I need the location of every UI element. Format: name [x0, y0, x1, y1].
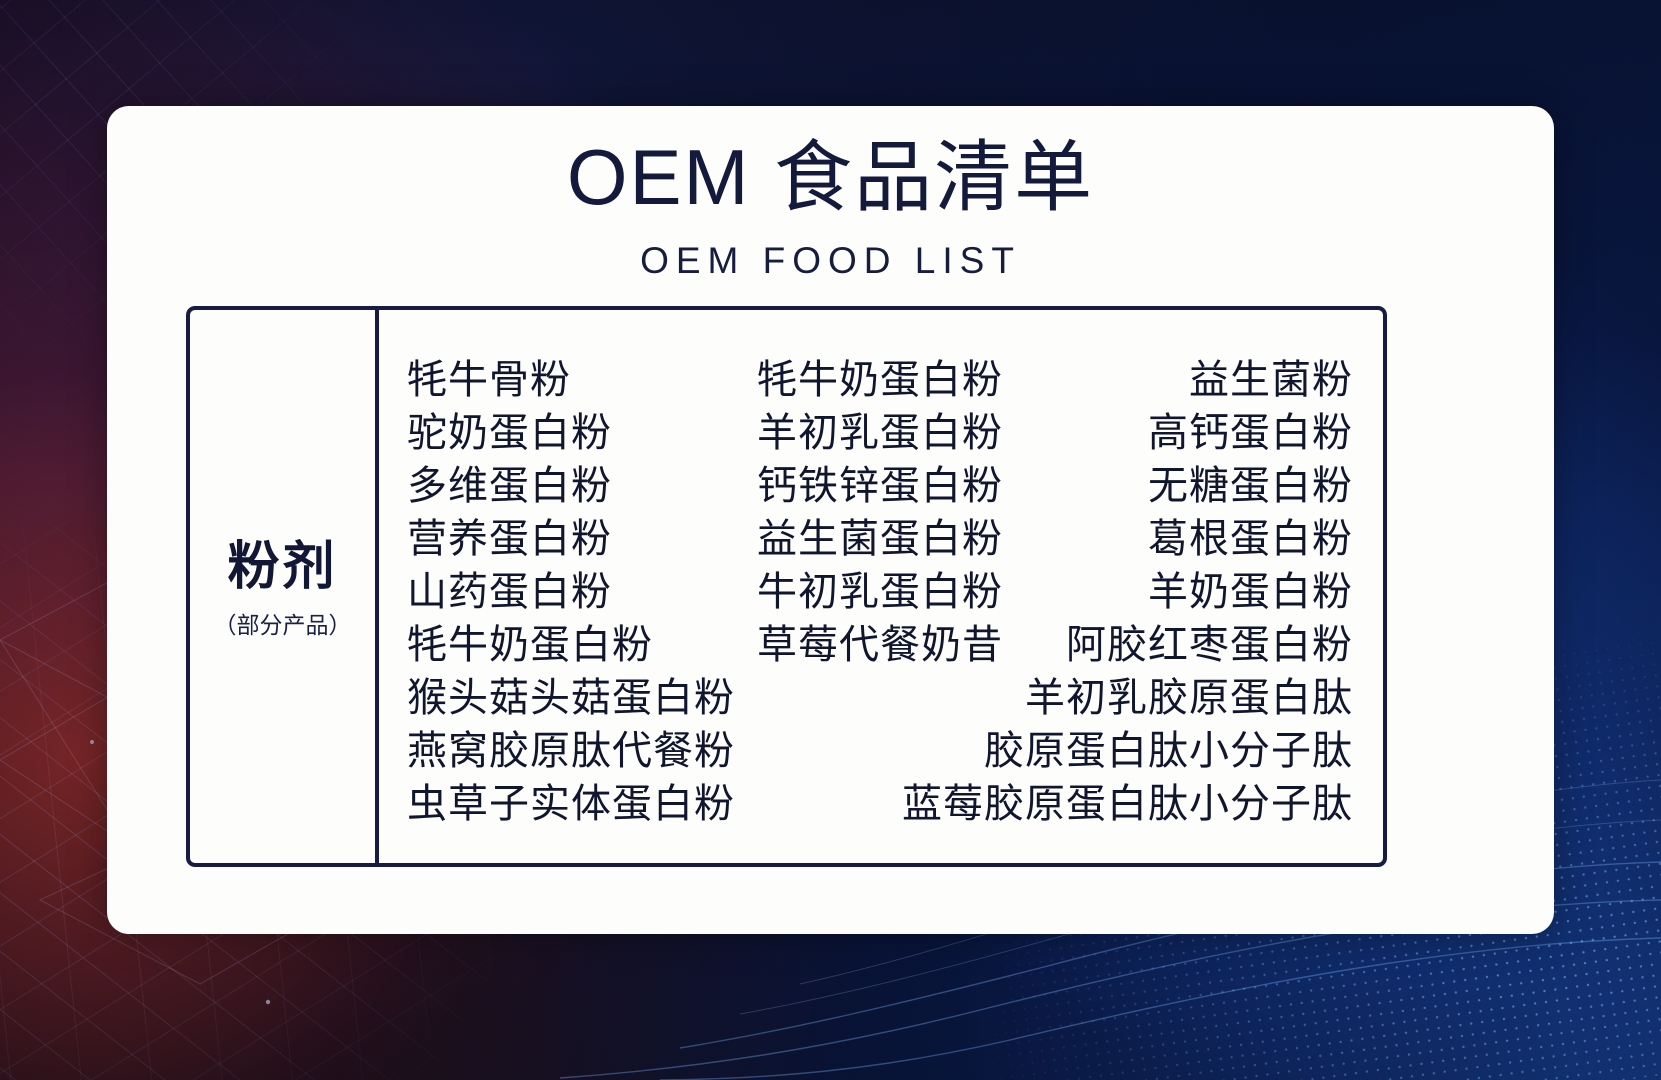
table-row: 山药蛋白粉 牛初乳蛋白粉 羊奶蛋白粉 [393, 561, 1361, 614]
slide-stage: OEM 食品清单 OEM FOOD LIST 粉剂 （部分产品） 牦牛骨粉 牦牛… [0, 0, 1661, 1080]
product-name: 蓝莓胶原蛋白肽小分子肽 [902, 771, 1353, 829]
table-cell: 牦牛奶蛋白粉 [722, 347, 1037, 405]
table-cell: 草莓代餐奶昔 [722, 612, 1037, 670]
table-cell: 多维蛋白粉 [393, 453, 722, 511]
table-row: 牦牛骨粉 牦牛奶蛋白粉 益生菌粉 [393, 349, 1361, 402]
product-name: 益生菌蛋白粉 [757, 506, 1003, 564]
category-name: 粉剂 [227, 539, 337, 596]
table-row: 多维蛋白粉 钙铁锌蛋白粉 无糖蛋白粉 [393, 455, 1361, 508]
table-cell: 牛初乳蛋白粉 [722, 559, 1037, 617]
table-row: 营养蛋白粉 益生菌蛋白粉 葛根蛋白粉 [393, 508, 1361, 561]
table-cell: 益生菌蛋白粉 [722, 506, 1037, 564]
product-name: 牦牛奶蛋白粉 [407, 612, 653, 670]
product-name: 高钙蛋白粉 [1148, 400, 1353, 458]
product-name: 胶原蛋白肽小分子肽 [984, 718, 1353, 776]
category-note: （部分产品） [214, 606, 352, 640]
product-name: 羊初乳胶原蛋白肽 [1025, 665, 1353, 723]
table-cell: 胶原蛋白肽小分子肽 [880, 718, 1361, 776]
table-cell: 益生菌粉 [1038, 347, 1361, 405]
table-cell: 牦牛骨粉 [393, 347, 722, 405]
table-row: 驼奶蛋白粉 羊初乳蛋白粉 高钙蛋白粉 [393, 402, 1361, 455]
product-name: 羊初乳蛋白粉 [757, 400, 1003, 458]
product-table: 粉剂 （部分产品） 牦牛骨粉 牦牛奶蛋白粉 益生菌粉 驼奶蛋白粉 羊初乳蛋白粉 … [186, 306, 1387, 867]
product-name: 阿胶红枣蛋白粉 [1066, 612, 1353, 670]
product-name: 无糖蛋白粉 [1148, 453, 1353, 511]
table-cell: 葛根蛋白粉 [1038, 506, 1361, 564]
product-name: 山药蛋白粉 [407, 559, 612, 617]
product-name: 草莓代餐奶昔 [757, 612, 1003, 670]
table-row: 虫草子实体蛋白粉 蓝莓胶原蛋白肽小分子肽 [393, 773, 1361, 826]
page-subtitle: OEM FOOD LIST [107, 242, 1554, 279]
table-row: 牦牛奶蛋白粉 草莓代餐奶昔 阿胶红枣蛋白粉 [393, 614, 1361, 667]
table-cell: 羊初乳蛋白粉 [722, 400, 1037, 458]
product-name: 羊奶蛋白粉 [1148, 559, 1353, 617]
product-list: 牦牛骨粉 牦牛奶蛋白粉 益生菌粉 驼奶蛋白粉 羊初乳蛋白粉 高钙蛋白粉 多维蛋白… [379, 310, 1383, 863]
product-name: 猴头菇头菇蛋白粉 [407, 665, 735, 723]
table-cell: 钙铁锌蛋白粉 [722, 453, 1037, 511]
table-cell: 牦牛奶蛋白粉 [393, 612, 722, 670]
table-row: 猴头菇头菇蛋白粉 羊初乳胶原蛋白肽 [393, 667, 1361, 720]
table-cell: 无糖蛋白粉 [1038, 453, 1361, 511]
product-name: 牦牛骨粉 [407, 347, 571, 405]
product-name: 牦牛奶蛋白粉 [757, 347, 1003, 405]
product-name: 葛根蛋白粉 [1148, 506, 1353, 564]
product-name: 营养蛋白粉 [407, 506, 612, 564]
page-title: OEM 食品清单 [107, 106, 1554, 216]
product-name: 燕窝胶原肽代餐粉 [407, 718, 735, 776]
product-name: 益生菌粉 [1189, 347, 1353, 405]
content-card: OEM 食品清单 OEM FOOD LIST 粉剂 （部分产品） 牦牛骨粉 牦牛… [107, 106, 1554, 934]
table-cell: 阿胶红枣蛋白粉 [1038, 612, 1361, 670]
table-cell: 驼奶蛋白粉 [393, 400, 722, 458]
table-cell: 燕窝胶原肽代餐粉 [393, 718, 880, 776]
table-cell: 营养蛋白粉 [393, 506, 722, 564]
table-cell: 蓝莓胶原蛋白肽小分子肽 [880, 771, 1361, 829]
product-name: 虫草子实体蛋白粉 [407, 771, 735, 829]
product-name: 钙铁锌蛋白粉 [757, 453, 1003, 511]
table-cell: 高钙蛋白粉 [1038, 400, 1361, 458]
product-name: 多维蛋白粉 [407, 453, 612, 511]
table-cell: 羊初乳胶原蛋白肽 [880, 665, 1361, 723]
category-cell: 粉剂 （部分产品） [190, 310, 379, 863]
table-cell: 山药蛋白粉 [393, 559, 722, 617]
product-name: 牛初乳蛋白粉 [757, 559, 1003, 617]
table-cell: 羊奶蛋白粉 [1038, 559, 1361, 617]
table-row: 燕窝胶原肽代餐粉 胶原蛋白肽小分子肽 [393, 720, 1361, 773]
table-cell: 虫草子实体蛋白粉 [393, 771, 880, 829]
product-name: 驼奶蛋白粉 [407, 400, 612, 458]
table-cell: 猴头菇头菇蛋白粉 [393, 665, 880, 723]
